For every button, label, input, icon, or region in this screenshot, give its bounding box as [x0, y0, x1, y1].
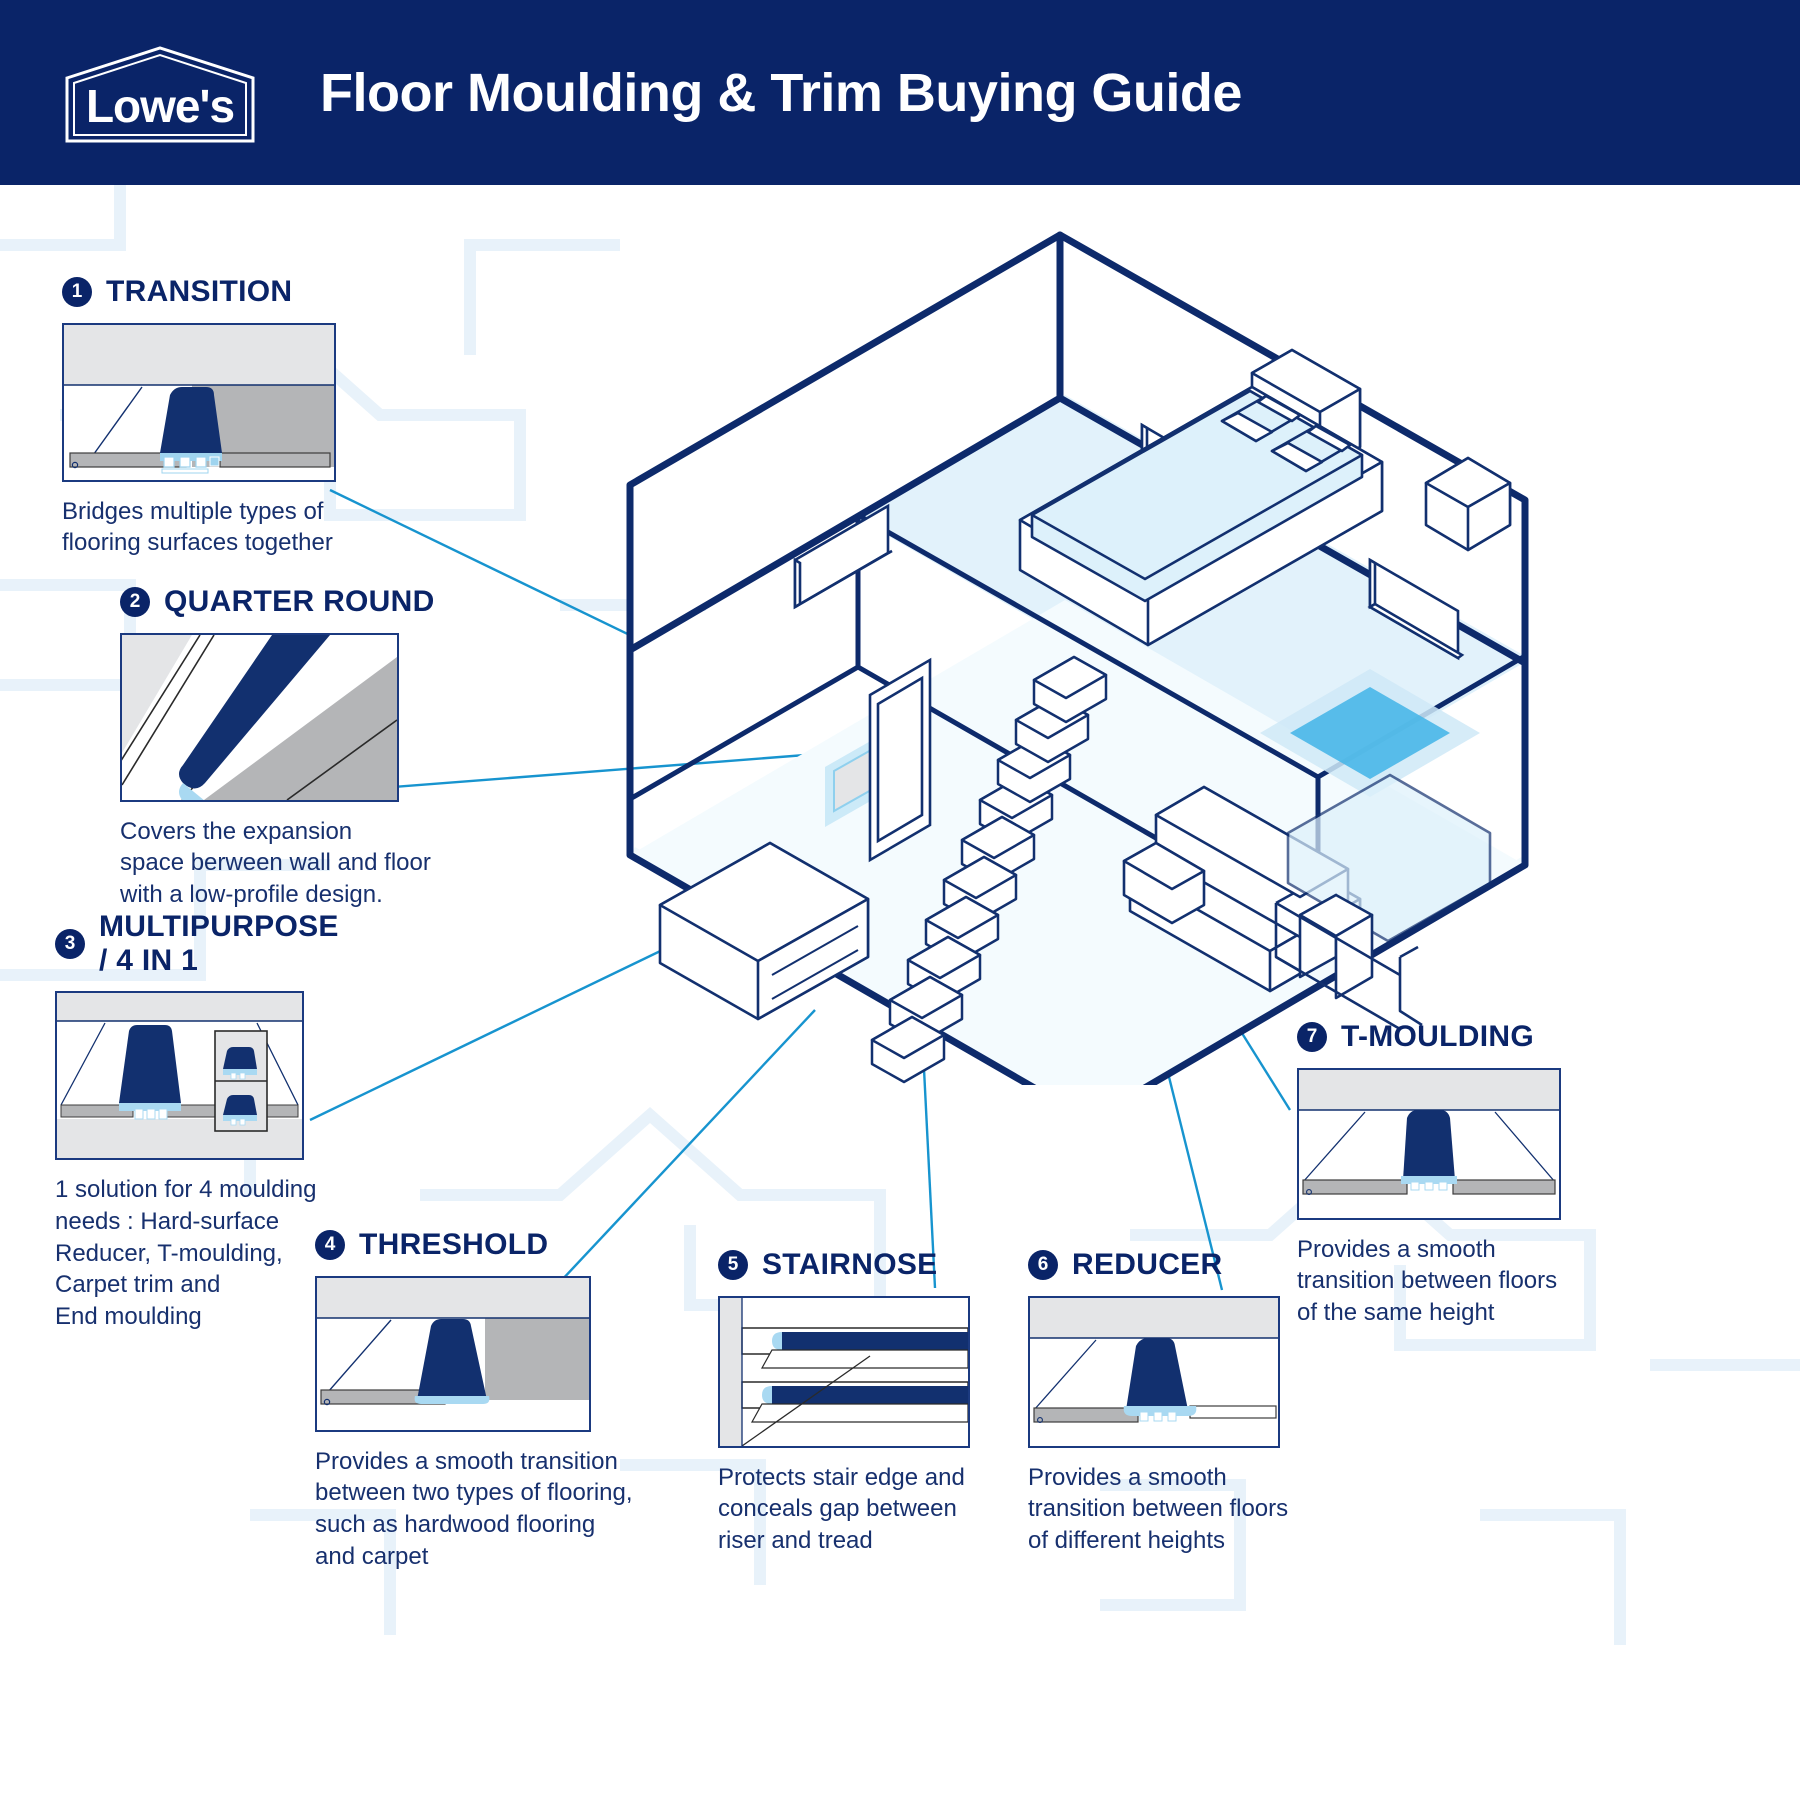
callout-quarter-round[interactable]: 2 QUARTER ROUND Covers the expansion spa… [120, 585, 480, 911]
callout-header: 7 T-MOULDING [1297, 1020, 1587, 1054]
callout-threshold[interactable]: 4 THRESHOLD Provides a smooth transition… [315, 1228, 655, 1572]
quarter-round-profile-diagram [120, 633, 399, 802]
callout-title: TRANSITION [106, 275, 292, 309]
callout-title: QUARTER ROUND [164, 585, 435, 619]
callout-header: 6 REDUCER [1028, 1248, 1298, 1282]
callout-title: REDUCER [1072, 1248, 1222, 1282]
lowes-logo[interactable]: Lowe's [55, 42, 265, 147]
callout-stairnose[interactable]: 5 STAIRNOSE Protects stair edge and conc… [718, 1248, 988, 1557]
callout-header: 3 MULTIPURPOSE / 4 IN 1 [55, 910, 395, 977]
callout-t-moulding[interactable]: 7 T-MOULDING Provides a smooth transitio… [1297, 1020, 1587, 1329]
callout-number-badge: 2 [120, 587, 150, 617]
transition-profile-diagram [62, 323, 336, 482]
callout-title: T-MOULDING [1341, 1020, 1534, 1054]
callout-number-badge: 4 [315, 1230, 345, 1260]
callout-description: Provides a smooth transition between flo… [1028, 1462, 1298, 1557]
callout-description: Covers the expansion space berween wall … [120, 816, 480, 911]
reducer-profile-diagram [1028, 1296, 1280, 1448]
callout-number-badge: 6 [1028, 1250, 1058, 1280]
callout-number-badge: 1 [62, 277, 92, 307]
callout-header: 4 THRESHOLD [315, 1228, 655, 1262]
page-header: Lowe's Floor Moulding & Trim Buying Guid… [0, 0, 1800, 185]
callout-title: STAIRNOSE [762, 1248, 938, 1282]
callout-description: Bridges multiple types of flooring surfa… [62, 496, 392, 559]
callout-number-badge: 7 [1297, 1022, 1327, 1052]
stairnose-profile-diagram [718, 1296, 970, 1448]
logo-wordmark: Lowe's [55, 42, 265, 147]
t-moulding-profile-diagram [1297, 1068, 1561, 1220]
callout-number-badge: 5 [718, 1250, 748, 1280]
callout-description: Protects stair edge and conceals gap bet… [718, 1462, 988, 1557]
callout-description: Provides a smooth transition between two… [315, 1446, 655, 1573]
callout-description: Provides a smooth transition between flo… [1297, 1234, 1587, 1329]
callout-header: 2 QUARTER ROUND [120, 585, 480, 619]
callout-title: MULTIPURPOSE / 4 IN 1 [99, 910, 339, 977]
page-title: Floor Moulding & Trim Buying Guide [320, 0, 1242, 185]
multipurpose-profile-diagram [55, 991, 304, 1160]
callout-header: 5 STAIRNOSE [718, 1248, 988, 1282]
callout-number-badge: 3 [55, 929, 85, 959]
threshold-profile-diagram [315, 1276, 591, 1432]
callout-header: 1 TRANSITION [62, 275, 392, 309]
callout-transition[interactable]: 1 TRANSITION Bridges multiple types of f… [62, 275, 392, 559]
callout-title: THRESHOLD [359, 1228, 548, 1262]
isometric-house-illustration [600, 215, 1560, 1085]
callout-reducer[interactable]: 6 REDUCER Provides a smooth transition b… [1028, 1248, 1298, 1557]
